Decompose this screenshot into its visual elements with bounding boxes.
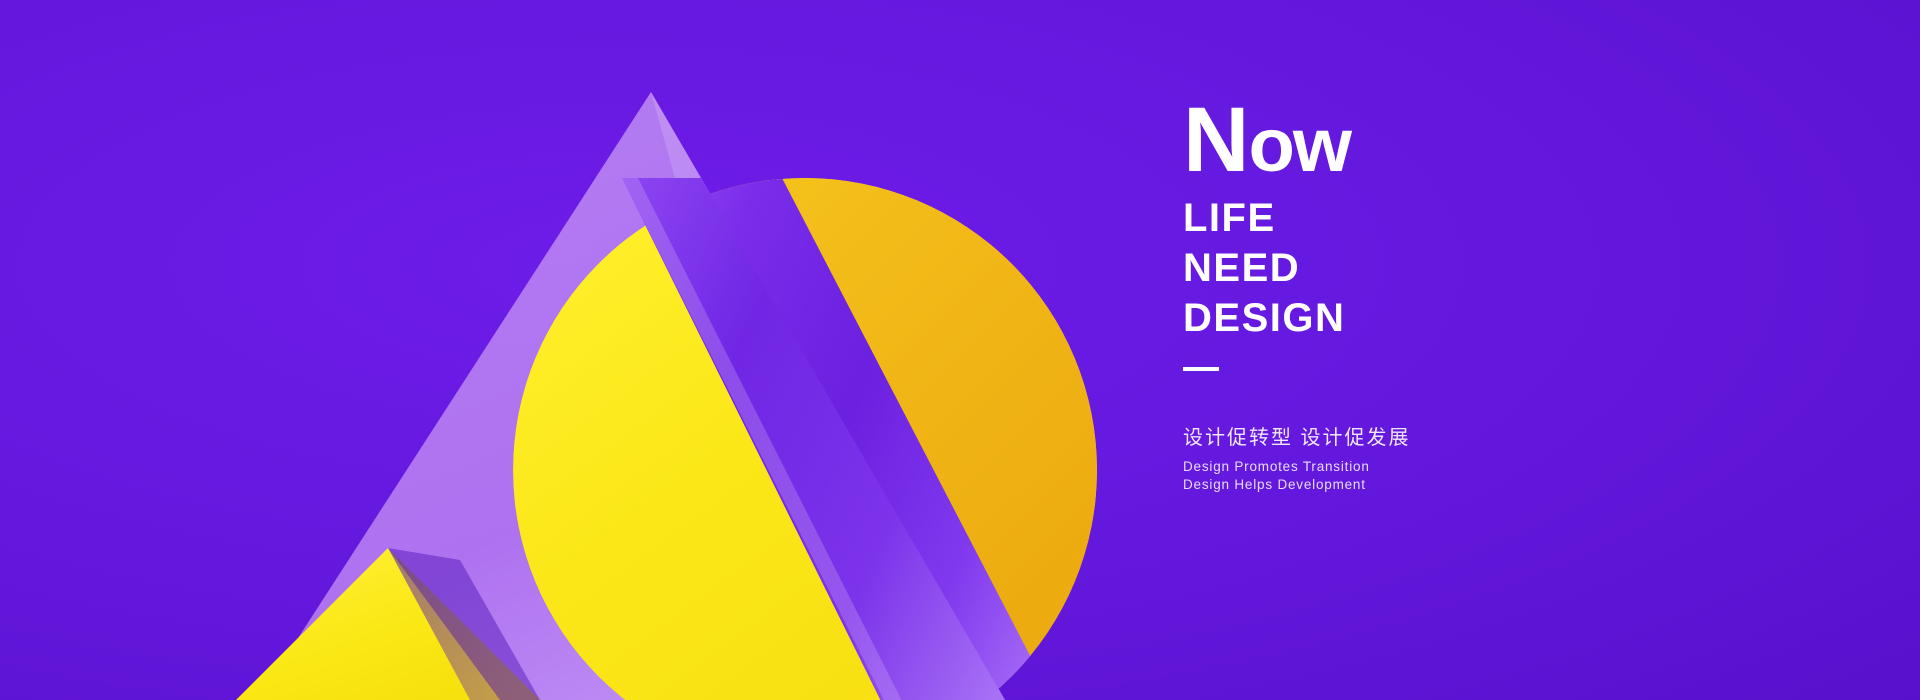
headline-line-need: NEED [1183, 247, 1603, 290]
headline-line-life: LIFE [1183, 197, 1603, 240]
wordmark-now: Now [1183, 104, 1603, 183]
wordmark-cap-letter: N [1183, 89, 1248, 191]
tagline-english-line2: Design Helps Development [1183, 477, 1603, 493]
design-banner: Now LIFE NEED DESIGN 设计促转型 设计促发展 Design … [0, 0, 1920, 700]
wordmark-lower-letters: ow [1248, 103, 1350, 188]
headline-line-design: DESIGN [1183, 297, 1603, 340]
tagline-english-line1: Design Promotes Transition [1183, 459, 1603, 475]
abstract-artwork [0, 0, 1920, 700]
divider-rule [1183, 367, 1219, 371]
tagline-chinese: 设计促转型 设计促发展 [1183, 421, 1603, 450]
hero-text-block: Now LIFE NEED DESIGN 设计促转型 设计促发展 Design … [1183, 104, 1603, 492]
